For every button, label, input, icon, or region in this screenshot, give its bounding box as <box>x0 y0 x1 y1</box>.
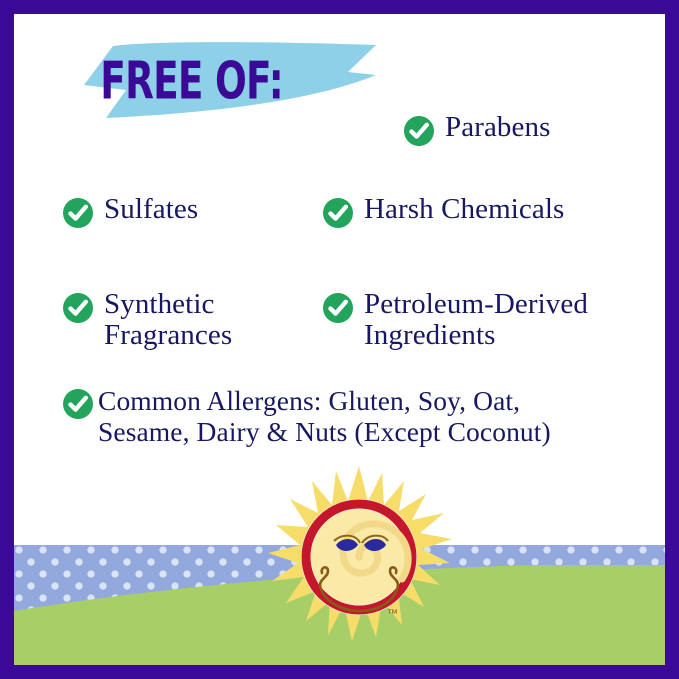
free-of-item-sulfates: Sulfates <box>62 194 198 229</box>
sun-graphic <box>264 461 454 651</box>
banner-title: FREE OF: <box>80 39 314 123</box>
check-circle-icon <box>322 292 354 324</box>
check-circle-icon <box>62 388 92 418</box>
free-of-item-label: Synthetic Fragrances <box>104 289 232 352</box>
check-circle-icon <box>403 115 435 147</box>
trademark-symbol: ™ <box>387 608 399 620</box>
free-of-item-label: Petroleum-Derived Ingredients <box>364 289 588 352</box>
free-of-item-label: Common Allergens: Gluten, Soy, Oat, Sesa… <box>98 386 551 448</box>
free-of-item-label: Harsh Chemicals <box>364 194 564 225</box>
free-of-item-label: Parabens <box>445 112 551 143</box>
check-circle-icon <box>62 292 94 324</box>
free-of-item-synthetic-fragrances: Synthetic Fragrances <box>62 289 232 352</box>
smiling-sun-logo <box>264 461 454 651</box>
check-circle-icon <box>322 197 354 229</box>
free-of-item-parabens: Parabens <box>403 112 551 147</box>
free-of-item-common-allergens: Common Allergens: Gluten, Soy, Oat, Sesa… <box>62 386 551 448</box>
free-of-card: FREE OF: Parabens Sulfates Harsh Chemica… <box>0 0 679 679</box>
free-of-item-petroleum-derived: Petroleum-Derived Ingredients <box>322 289 588 352</box>
free-of-item-label: Sulfates <box>104 194 198 225</box>
card-inner: FREE OF: Parabens Sulfates Harsh Chemica… <box>14 14 665 665</box>
free-of-item-harsh-chemicals: Harsh Chemicals <box>322 194 564 229</box>
free-of-banner: FREE OF: <box>80 42 380 120</box>
check-circle-icon <box>62 197 94 229</box>
